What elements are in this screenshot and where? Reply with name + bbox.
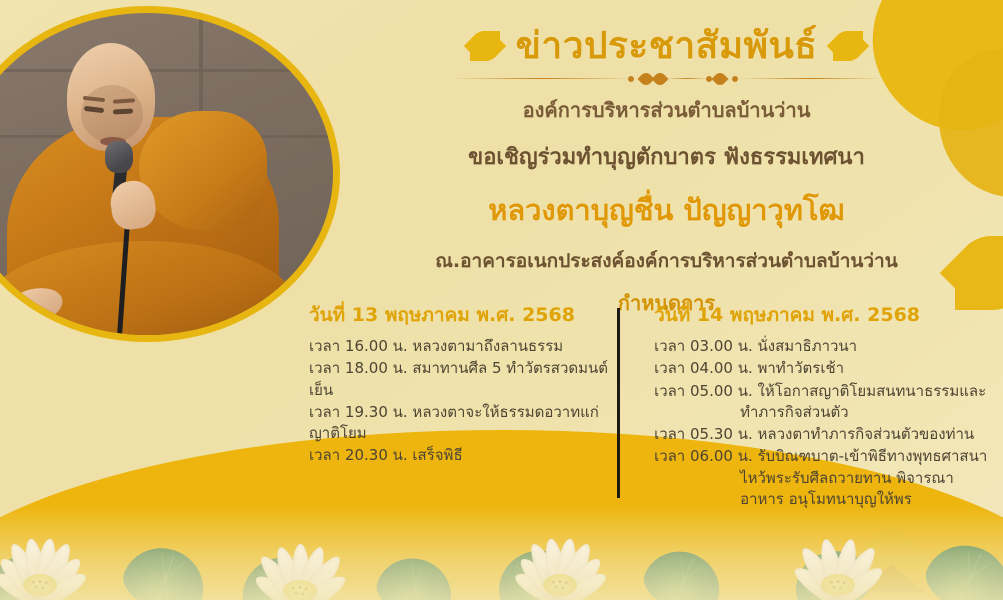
- schedule-item: เวลา 03.00 น. นั่งสมาธิภาวนา: [654, 336, 995, 357]
- schedule-item-text: เวลา 03.00 น. นั่งสมาธิภาวนา: [654, 337, 857, 355]
- title-row: ข่าวประชาสัมพันธ์: [330, 26, 1003, 67]
- schedule-item: เวลา 18.00 น. สมาทานศีล 5 ทำวัตรสวดมนต์เ…: [295, 358, 622, 401]
- flourish-divider-icon: [452, 72, 882, 86]
- schedule-item-text: เวลา 19.30 น. หลวงตาจะให้ธรรมดอวาทแก่ญาต…: [309, 403, 599, 442]
- schedule-item-text: เวลา 05.00 น. ให้โอกาสญาติโยมสนทนาธรรมแล…: [654, 382, 986, 400]
- schedule-item: เวลา 06.00 น. รับบิณฑบาต-เข้าพิธีทางพุทธ…: [654, 446, 995, 510]
- monk-name: หลวงตาบุญชื่น ปัญญาวุทโฒ: [330, 187, 1003, 233]
- schedule-date-day2: วันที่ 14 พฤษภาคม พ.ศ. 2568: [654, 300, 995, 330]
- page-title: ข่าวประชาสัมพันธ์: [516, 26, 818, 67]
- schedule-item-continuation: อาหาร อนุโมทนาบุญให้พร: [654, 489, 995, 510]
- schedule-item-text: เวลา 04.00 น. พาทำวัตรเช้า: [654, 359, 844, 377]
- invitation-text: ขอเชิญร่วมทำบุญตักบาตร ฟังธรรมเทศนา: [330, 139, 1003, 174]
- schedule-item: เวลา 05.30 น. หลวงตาทำภารกิจส่วนตัวของท่…: [654, 424, 995, 445]
- schedule-item-continuation: ทำภารกิจส่วนตัว: [654, 402, 995, 423]
- schedule-section: วันที่ 13 พฤษภาคม พ.ศ. 2568 เวลา 16.00 น…: [295, 300, 995, 511]
- schedule-item-continuation: ไหว้พระรับศีลถวายทาน พิจารณา: [654, 468, 995, 489]
- schedule-item: เวลา 05.00 น. ให้โอกาสญาติโยมสนทนาธรรมแล…: [654, 381, 995, 424]
- schedule-item: เวลา 16.00 น. หลวงตามาถึงลานธรรม: [295, 336, 622, 357]
- venue-text: ณ.อาคารอเนกประสงค์องค์การบริหารส่วนตำบลบ…: [330, 246, 1003, 276]
- organization-name: องค์การบริหารส่วนตำบลบ้านว่าน: [330, 94, 1003, 126]
- schedule-item-text: เวลา 05.30 น. หลวงตาทำภารกิจส่วนตัวของท่…: [654, 425, 974, 443]
- quatrefoil-right-icon: [833, 31, 863, 61]
- schedule-date-day1: วันที่ 13 พฤษภาคม พ.ศ. 2568: [295, 300, 622, 330]
- schedule-item-text: เวลา 06.00 น. รับบิณฑบาต-เข้าพิธีทางพุทธ…: [654, 447, 987, 465]
- quatrefoil-left-icon: [470, 31, 500, 61]
- monk-portrait-photo: [0, 13, 333, 335]
- schedule-item-text: เวลา 16.00 น. หลวงตามาถึงลานธรรม: [309, 337, 563, 355]
- schedule-column-day1: วันที่ 13 พฤษภาคม พ.ศ. 2568 เวลา 16.00 น…: [295, 300, 636, 511]
- schedule-item: เวลา 20.30 น. เสร็จพิธี: [295, 445, 622, 466]
- microphone-icon: [105, 141, 133, 173]
- poster-content: ข่าวประชาสัมพันธ์ องค์การบริหารส่วนตำบลบ…: [330, 0, 1003, 600]
- schedule-item: เวลา 19.30 น. หลวงตาจะให้ธรรมดอวาทแก่ญาต…: [295, 402, 622, 445]
- schedule-column-day2: วันที่ 14 พฤษภาคม พ.ศ. 2568 เวลา 03.00 น…: [636, 300, 995, 511]
- poster-canvas: ข่าวประชาสัมพันธ์ องค์การบริหารส่วนตำบลบ…: [0, 0, 1003, 600]
- schedule-item-text: เวลา 20.30 น. เสร็จพิธี: [309, 446, 463, 464]
- monk-portrait-frame: [0, 6, 340, 342]
- schedule-item-text: เวลา 18.00 น. สมาทานศีล 5 ทำวัตรสวดมนต์เ…: [309, 359, 608, 398]
- schedule-item: เวลา 04.00 น. พาทำวัตรเช้า: [654, 358, 995, 379]
